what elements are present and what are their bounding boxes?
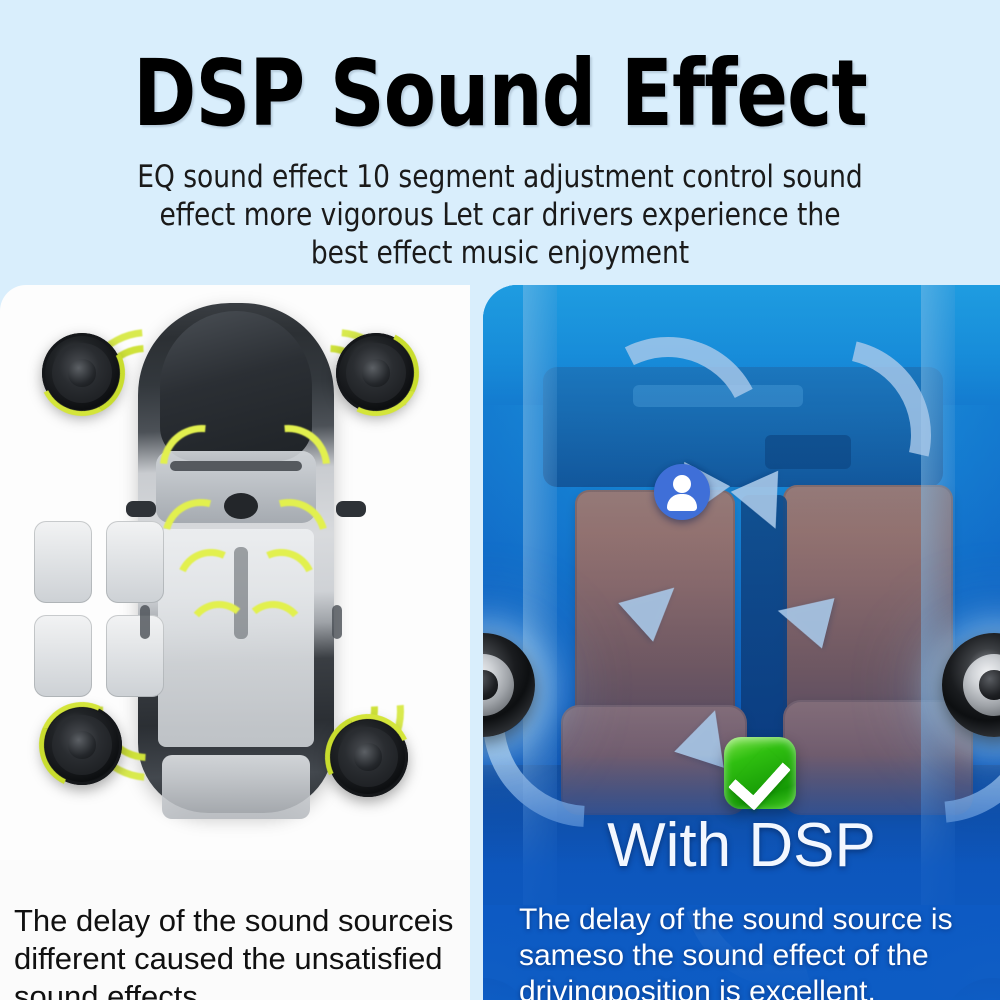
product-feature-graphic: DSP Sound Effect EQ sound effect 10 segm…: [0, 0, 1000, 1000]
without-dsp-caption-area: The delay of the sound sourceis differen…: [0, 860, 470, 1000]
speaker-icon: [328, 717, 408, 797]
status-badge-success: [724, 737, 796, 809]
sound-arrow: [519, 585, 679, 725]
page-subtitle: EQ sound effect 10 segment adjustment co…: [130, 158, 871, 272]
car-door-handle-left: [140, 605, 150, 639]
check-mark-icon: [728, 746, 791, 810]
car-mirror-right: [336, 501, 366, 517]
with-dsp-caption: The delay of the sound source is sameso …: [519, 902, 989, 1000]
page-title: DSP Sound Effect: [40, 48, 960, 140]
car-top-view-icon: [0, 285, 470, 845]
car-mirror-left: [126, 501, 156, 517]
sound-arrow: [783, 585, 963, 725]
car-seat-rear-left: [34, 615, 92, 697]
speaker-icon: [42, 333, 122, 413]
person-icon-body: [667, 494, 697, 511]
car-door-handle-right: [332, 605, 342, 639]
without-dsp-caption: The delay of the sound sourceis differen…: [14, 902, 466, 1000]
speaker-icon: [42, 705, 122, 785]
with-dsp-caption-area: The delay of the sound source is sameso …: [483, 860, 1000, 1000]
car-seat-front-right: [106, 521, 164, 603]
speaker-icon: [336, 333, 416, 413]
sound-arrow: [731, 403, 861, 533]
header: DSP Sound Effect EQ sound effect 10 segm…: [0, 0, 1000, 285]
person-icon: [654, 464, 710, 520]
car-seat-front-left: [34, 521, 92, 603]
person-icon-head: [673, 475, 691, 493]
